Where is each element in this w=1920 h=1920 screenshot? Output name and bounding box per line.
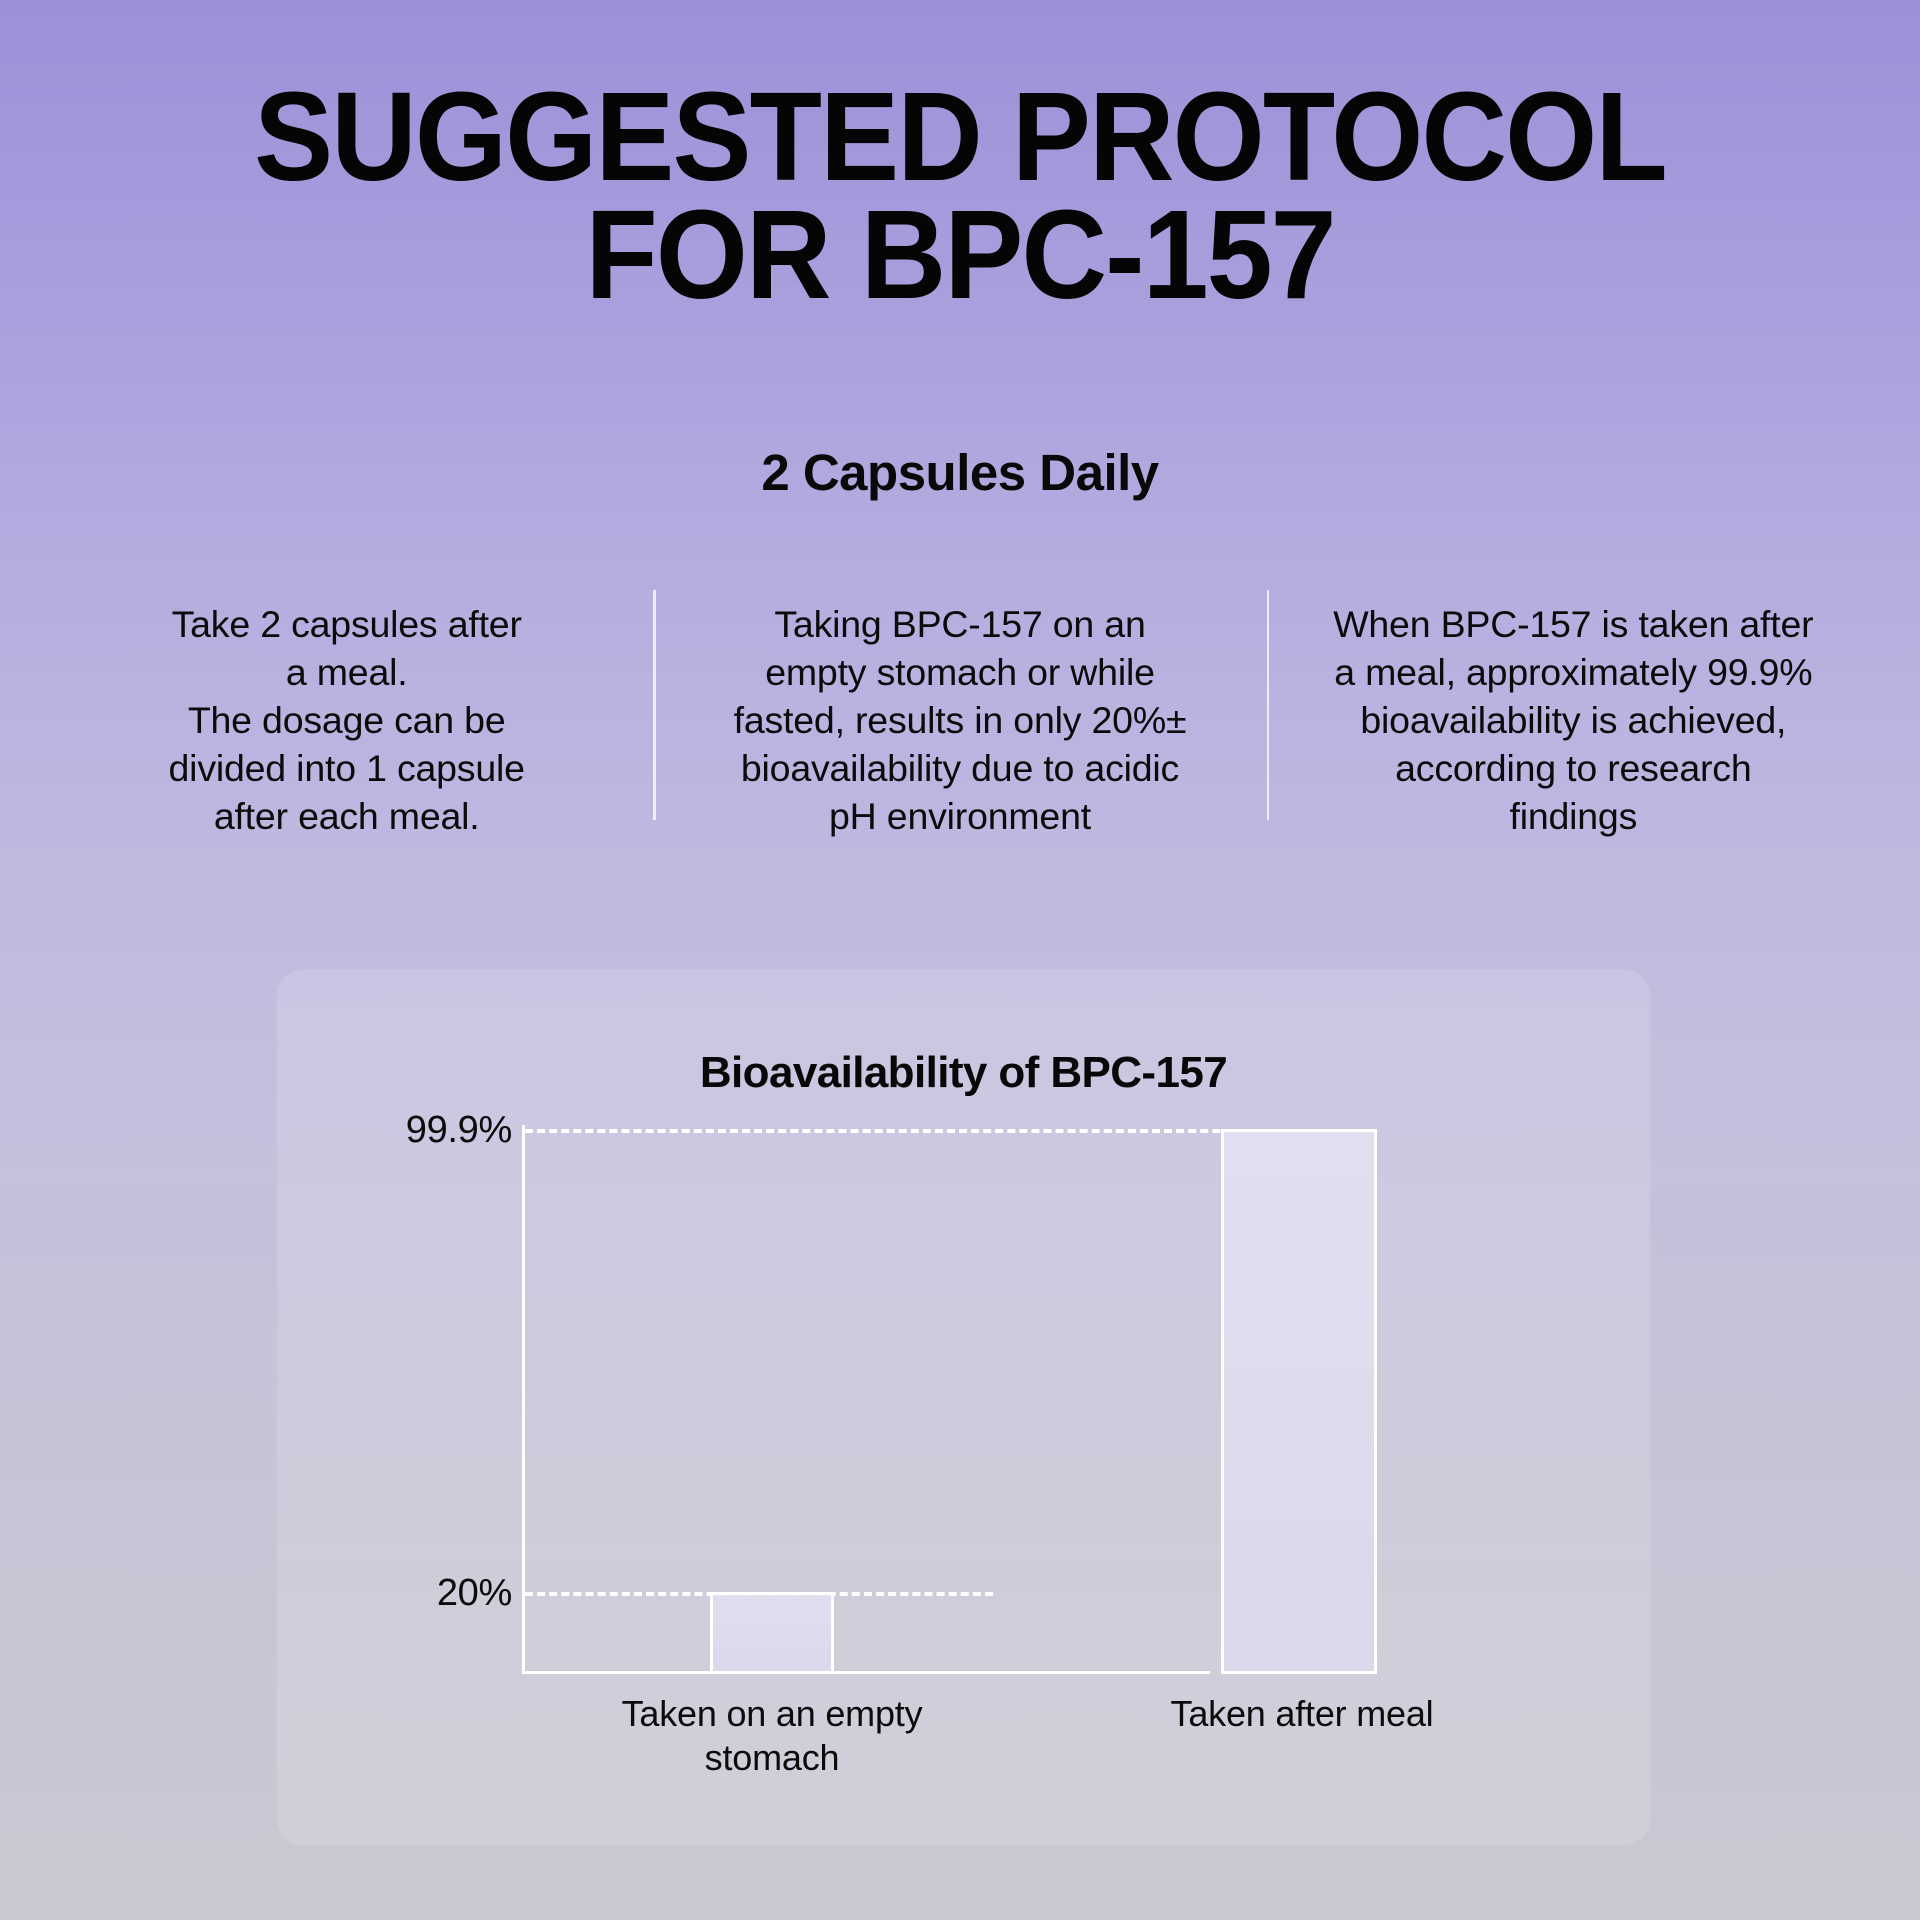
info-column-after-meal: When BPC-157 is taken after a meal, appr…: [1267, 600, 1880, 840]
y-axis-line: [522, 1125, 525, 1673]
bar-chart-plot: 99.9% 20% Taken on an empty stomach Take…: [277, 970, 1650, 1845]
page-title-line-2: FOR BPC-157: [58, 196, 1863, 314]
x-axis-tick-label-after-meal: Taken after meal: [1117, 1692, 1487, 1736]
page-title: SUGGESTED PROTOCOL FOR BPC-157: [0, 78, 1920, 314]
chart-card: Bioavailability of BPC-157 99.9% 20% Tak…: [277, 970, 1650, 1845]
info-column-empty-stomach: Taking BPC-157 on an empty stomach or wh…: [653, 600, 1266, 840]
infographic-page: SUGGESTED PROTOCOL FOR BPC-157 2 Capsule…: [0, 0, 1920, 1920]
info-columns: Take 2 capsules after a meal. The dosage…: [40, 600, 1880, 880]
info-column-dosage: Take 2 capsules after a meal. The dosage…: [40, 600, 653, 840]
x-axis-tick-label-empty-stomach: Taken on an empty stomach: [602, 1692, 942, 1780]
page-subtitle: 2 Capsules Daily: [0, 443, 1920, 503]
x-axis-line: [522, 1671, 1210, 1674]
y-axis-tick-label-low: 20%: [302, 1571, 512, 1615]
page-title-line-1: SUGGESTED PROTOCOL: [58, 78, 1863, 196]
y-axis-tick-label-high: 99.9%: [302, 1108, 512, 1152]
bar-taken-on-empty-stomach: [710, 1592, 834, 1674]
bar-taken-after-meal: [1221, 1129, 1377, 1674]
